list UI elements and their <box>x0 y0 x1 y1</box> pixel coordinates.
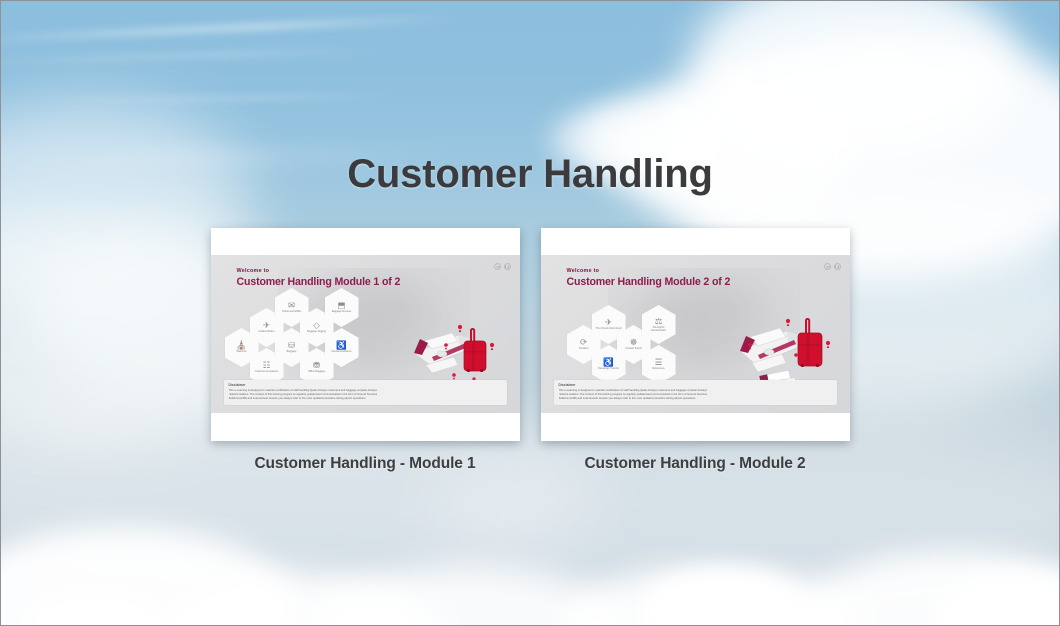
hex-label: Transfers <box>570 348 597 351</box>
pause-icon[interactable] <box>504 263 511 270</box>
slide-preview-1: Welcome to Customer Handling Module 1 of… <box>211 255 520 413</box>
slide-welcome-label: Welcome to <box>237 268 401 274</box>
slide-preview-2: Welcome to Customer Handling Module 2 of… <box>541 255 850 413</box>
module-card-list: Welcome to Customer Handling Module 1 of… <box>0 228 1060 473</box>
disclaimer-line: Bulletins (GSB) and Learnertools. Ensure… <box>229 397 502 401</box>
page-title: Customer Handling <box>0 152 1060 197</box>
hex-label: Pax Rights Administration <box>645 327 672 333</box>
audio-icon[interactable] <box>824 263 831 270</box>
hex-label: Thru Check Arrival & ptd <box>595 328 622 331</box>
monitor-icon: ⬒ <box>337 301 345 310</box>
offline-baggage-icon: ⛃ <box>313 361 320 370</box>
hex-label: Tickets and EMDs <box>278 311 305 314</box>
transfer-icon: ⟳ <box>580 338 587 347</box>
hex-label: Special Assistance <box>328 351 355 354</box>
hex-label: Welcome <box>228 351 255 354</box>
slide-media-controls <box>824 263 841 270</box>
module-card-caption-1[interactable]: Customer Handling - Module 1 <box>211 455 520 473</box>
disclaimer-box: Disclaimer This e-Learning is designed t… <box>224 380 507 405</box>
pause-icon[interactable] <box>834 263 841 270</box>
hex-label: Aviation Basics <box>253 331 280 334</box>
hex-label: Passenger Transfer <box>595 368 622 371</box>
tag-icon: ◇ <box>313 321 320 330</box>
module-card-2[interactable]: Welcome to Customer Handling Module 2 of… <box>541 228 850 441</box>
wheelchair-icon: ♿ <box>603 358 614 367</box>
ticket-icon: ✉ <box>288 301 295 310</box>
document-icon: ☰ <box>655 358 663 367</box>
module-card-1[interactable]: Welcome to Customer Handling Module 1 of… <box>211 228 520 441</box>
airplane-icon: ✈ <box>605 318 612 327</box>
disclaimer-title: Disclaimer <box>559 383 832 387</box>
hex-label: Offline Baggage <box>303 371 330 374</box>
disclaimer-box: Disclaimer This e-Learning is designed t… <box>554 380 837 405</box>
airplane-icon: ✈ <box>263 321 270 330</box>
hex-label: Onward Transit <box>620 348 647 351</box>
hex-label: Customer Acceptance <box>253 371 280 374</box>
hex-label: References <box>645 368 672 371</box>
audio-icon[interactable] <box>494 263 501 270</box>
slide-heading-group: Welcome to Customer Handling Module 2 of… <box>567 268 731 288</box>
customer-icon: ☷ <box>263 361 271 370</box>
disclaimer-title: Disclaimer <box>229 383 502 387</box>
slide-welcome-label: Welcome to <box>567 268 731 274</box>
wheelchair-icon: ♿ <box>336 341 347 350</box>
module-card-wrapper: Welcome to Customer Handling Module 1 of… <box>211 228 520 473</box>
hex-label: Baggage <box>278 351 305 354</box>
slide-heading-group: Welcome to Customer Handling Module 1 of… <box>237 268 401 288</box>
slide-title: Customer Handling Module 1 of 2 <box>237 276 401 288</box>
module-card-wrapper: Welcome to Customer Handling Module 2 of… <box>541 228 850 473</box>
disclaimer-line: Bulletins (GSB) and Learnertools. Ensure… <box>559 397 832 401</box>
hex-label: Baggage Services <box>328 311 355 314</box>
baggage-icon: ⛁ <box>288 341 295 350</box>
transit-icon: ☸ <box>630 338 638 347</box>
hex-label: Baggage Tagging <box>303 331 330 334</box>
rights-icon: ⚖ <box>655 317 663 326</box>
slide-title: Customer Handling Module 2 of 2 <box>567 276 731 288</box>
slide-media-controls <box>494 263 511 270</box>
church-icon: ⛪ <box>236 341 247 350</box>
module-card-caption-2[interactable]: Customer Handling - Module 2 <box>541 455 850 473</box>
